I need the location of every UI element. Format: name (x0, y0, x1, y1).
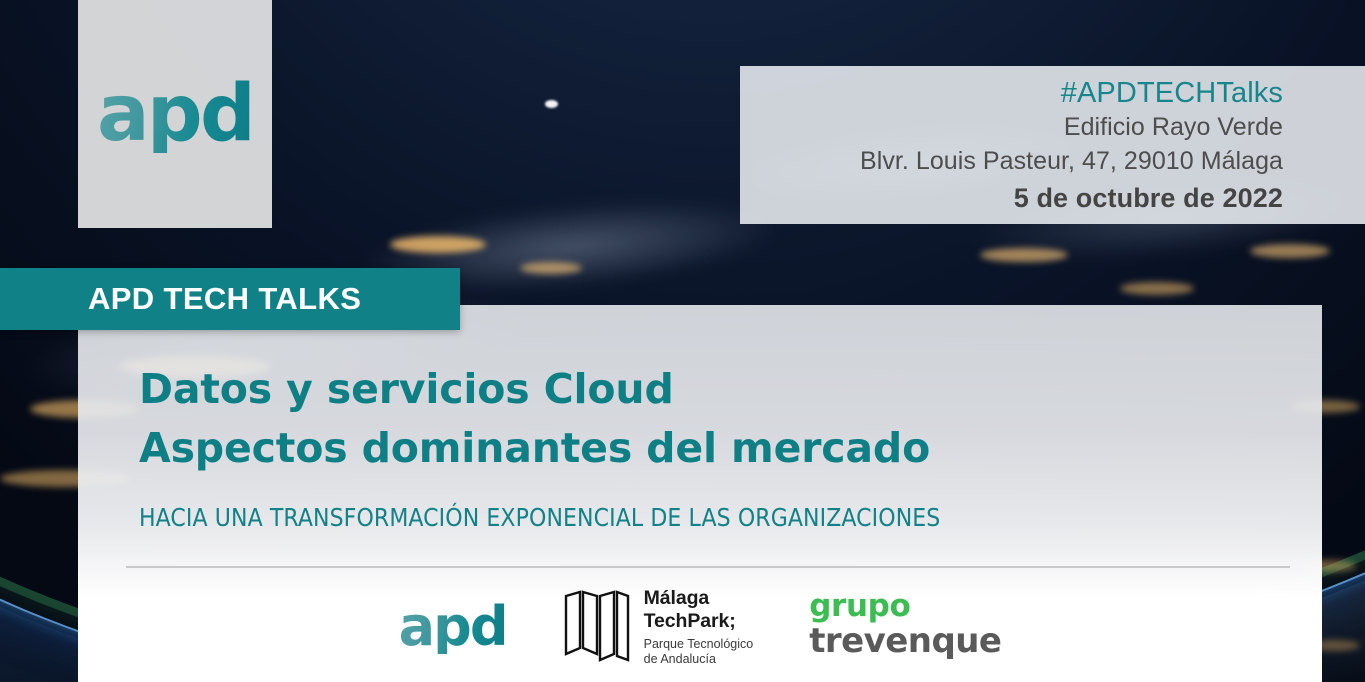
event-hashtag: #APDTECHTalks (740, 76, 1283, 111)
trevenque-name-word: trevenque (809, 624, 1001, 659)
apd-logo: apd (399, 600, 507, 654)
title-block: Datos y servicios Cloud Aspectos dominan… (78, 305, 1322, 479)
apd-logo: apd (97, 75, 253, 153)
techpark-sub-line-1: Parque Tecnológico (644, 637, 754, 652)
title-line-1: Datos y servicios Cloud (139, 360, 1322, 419)
sponsor-grupo-trevenque: grupo trevenque (809, 591, 1001, 663)
slide-canvas: apd #APDTECHTalks Edificio Rayo Verde Bl… (0, 0, 1365, 682)
main-content-panel: Datos y servicios Cloud Aspectos dominan… (78, 305, 1322, 682)
techpark-wordmark: Málaga TechPark; Parque Tecnológico de A… (644, 587, 754, 668)
event-info-panel: #APDTECHTalks Edificio Rayo Verde Blvr. … (740, 66, 1365, 224)
title-line-2: Aspectos dominantes del mercado (139, 419, 1322, 478)
trevenque-grupo-word: grupo (809, 591, 1001, 623)
apd-tech-talks-banner: APD TECH TALKS (0, 268, 460, 330)
event-date: 5 de octubre de 2022 (740, 180, 1283, 216)
sponsor-malaga-techpark: Málaga TechPark; Parque Tecnológico de A… (563, 587, 754, 668)
techpark-name-line-1: Málaga (644, 587, 754, 610)
venue-name: Edificio Rayo Verde (740, 111, 1283, 145)
techpark-pillars-icon (563, 590, 631, 664)
techpark-sub-line-2: de Andalucía (644, 652, 754, 667)
techpark-name-line-2: TechPark; (644, 610, 754, 633)
sponsor-apd: apd (399, 600, 507, 654)
venue-address: Blvr. Louis Pasteur, 47, 29010 Málaga (740, 145, 1283, 179)
banner-label: APD TECH TALKS (88, 281, 361, 317)
apd-logo-plate: apd (78, 0, 272, 228)
sponsor-logo-row: apd Málaga TechPark; Parque Tecnológico … (78, 587, 1322, 668)
subtitle: HACIA UNA TRANSFORMACIÓN EXPONENCIAL DE … (78, 503, 1322, 532)
divider (126, 566, 1290, 568)
